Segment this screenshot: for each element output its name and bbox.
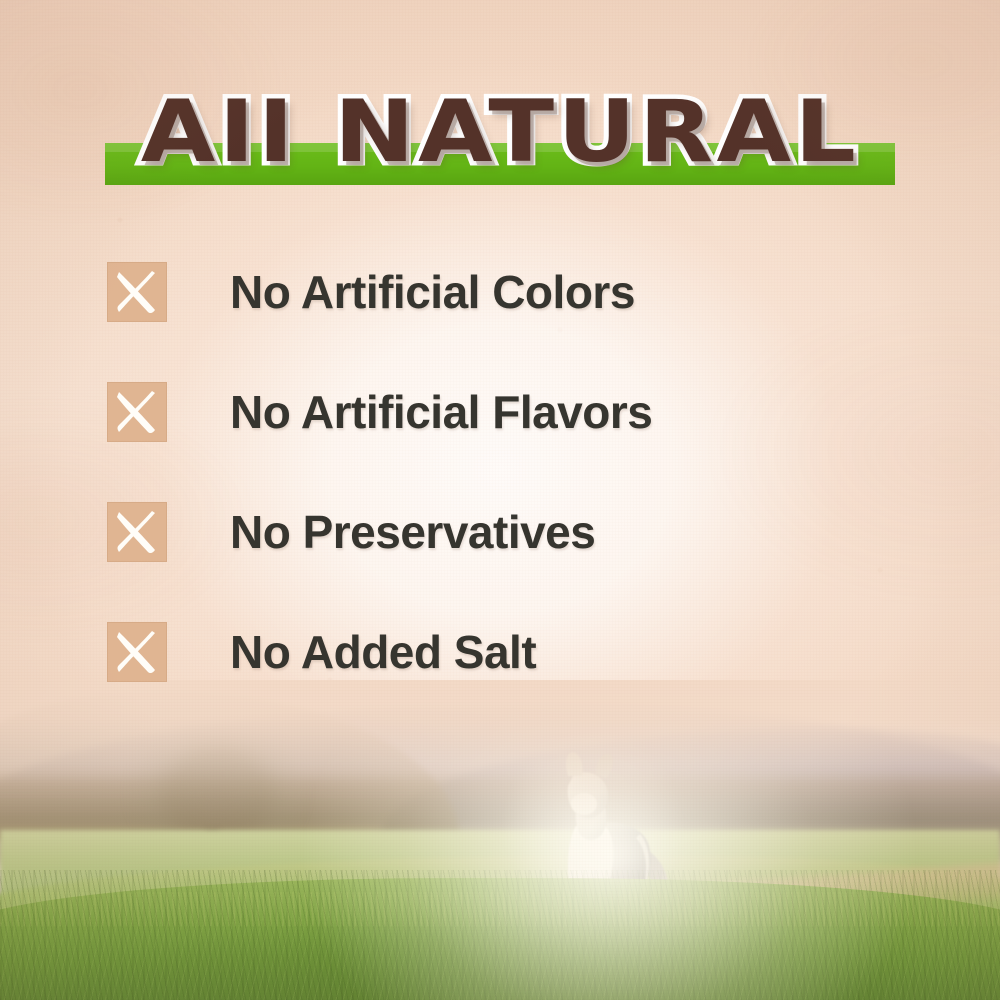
title-block: AII NATURAL xyxy=(0,72,1000,192)
page-title-text: AII NATURAL xyxy=(141,89,859,175)
benefit-label: No Added Salt xyxy=(230,629,536,675)
benefit-label: No Artificial Colors xyxy=(230,269,635,315)
x-mark-icon xyxy=(107,382,167,442)
x-mark-icon xyxy=(107,262,167,322)
benefit-label: No Preservatives xyxy=(230,509,595,555)
x-mark-icon xyxy=(107,502,167,562)
x-mark-icon xyxy=(107,622,167,682)
landscape-photo xyxy=(0,680,1000,1000)
benefit-row: No Artificial Flavors xyxy=(107,382,927,442)
grass-texture xyxy=(0,870,1000,1000)
benefit-list: No Artificial Colors No Artificial Flavo… xyxy=(107,262,927,682)
all-natural-poster: AII NATURAL No Artificial Colors No Arti… xyxy=(0,0,1000,1000)
benefit-row: No Artificial Colors xyxy=(107,262,927,322)
benefit-row: No Preservatives xyxy=(107,502,927,562)
benefit-label: No Artificial Flavors xyxy=(230,389,652,435)
page-title: AII NATURAL xyxy=(0,72,1000,192)
benefit-row: No Added Salt xyxy=(107,622,927,682)
